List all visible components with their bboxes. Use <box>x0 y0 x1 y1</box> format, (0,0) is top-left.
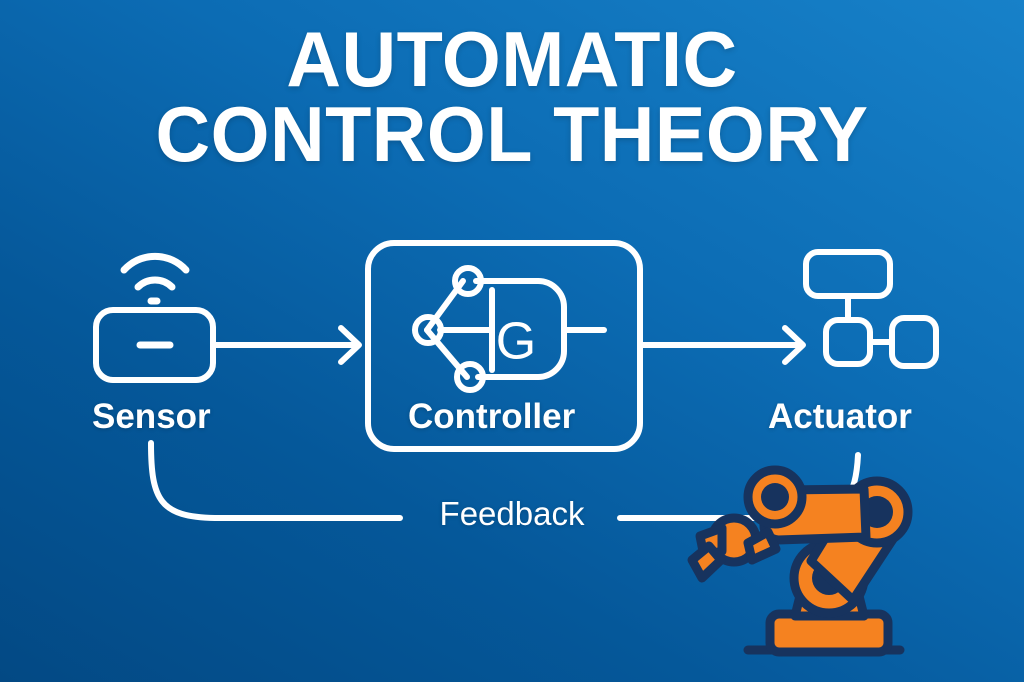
arrow-controller-to-actuator <box>640 328 803 362</box>
actuator-top-node-icon <box>806 252 890 296</box>
actuator-child-node-left-icon <box>826 320 870 364</box>
sensor-block[interactable] <box>96 256 213 380</box>
wifi-arc-inner <box>138 280 172 287</box>
feedback-label: Feedback <box>412 495 612 533</box>
wifi-arc-outer <box>124 256 186 270</box>
industrial-robot-arm-illustration <box>692 470 908 652</box>
diagram-layer: G <box>0 0 1024 682</box>
actuator-label: Actuator <box>768 397 912 437</box>
robot-gripper-mount <box>748 532 776 560</box>
arrow-sensor-to-controller <box>213 328 359 362</box>
feedback-line-left <box>151 443 400 518</box>
robot-gripper-claw-lower <box>692 546 721 578</box>
actuator-block[interactable] <box>806 252 936 366</box>
actuator-child-node-right-icon <box>892 318 936 366</box>
controller-g-label: G <box>496 313 536 371</box>
wifi-icon <box>124 256 186 301</box>
poster-canvas: AUTOMATIC CONTROL THEORY <box>0 0 1024 682</box>
sensor-label: Sensor <box>92 397 211 437</box>
controller-label: Controller <box>408 397 575 437</box>
robot-wrist-joint <box>761 483 789 511</box>
